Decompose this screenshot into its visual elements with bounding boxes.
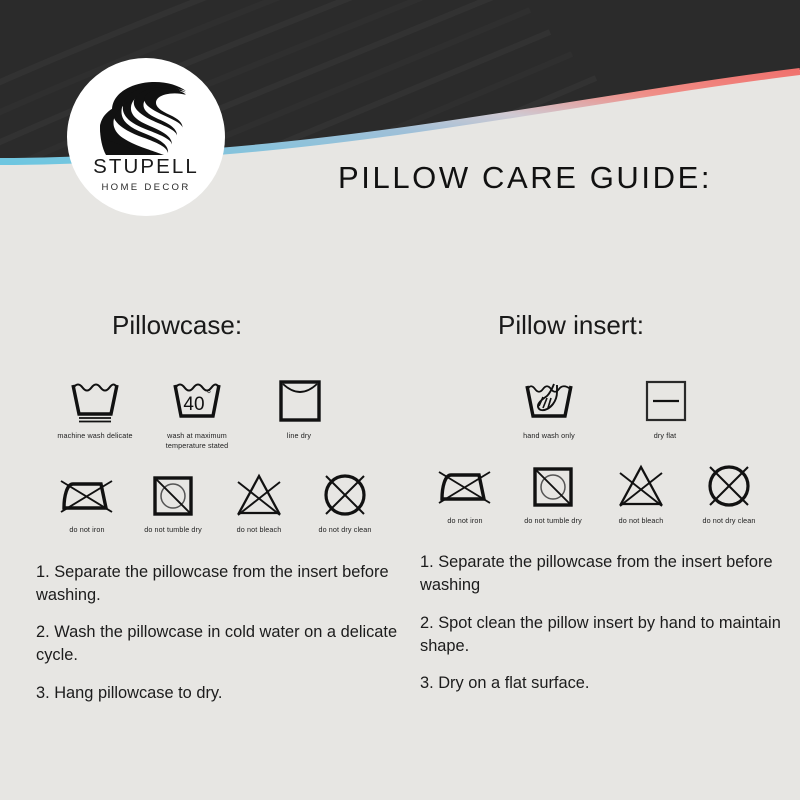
symbol-hand-wash-only: hand wash only — [512, 372, 586, 441]
pillow-insert-section: Pillow insert: hand wash only — [420, 312, 790, 695]
section-heading: Pillow insert: — [420, 312, 790, 338]
instruction-step: 1. Separate the pillowcase from the inse… — [36, 561, 406, 608]
dry-flat-icon — [639, 372, 691, 424]
symbol-do-not-tumble-dry: do not tumble dry — [516, 457, 590, 526]
wash-temperature-value: 40 — [183, 394, 204, 415]
symbol-do-not-iron: do not iron — [428, 457, 502, 526]
symbol-caption: do not bleach — [217, 525, 301, 535]
do-not-iron-icon — [435, 457, 495, 509]
line-dry-icon — [273, 372, 325, 424]
do-not-dry-clean-icon — [318, 466, 372, 518]
instruction-step: 2. Wash the pillowcase in cold water on … — [36, 621, 406, 668]
symbol-caption: hand wash only — [507, 431, 591, 441]
symbol-do-not-bleach: do not bleach — [604, 457, 678, 526]
symbol-caption: do not iron — [45, 525, 129, 535]
do-not-tumble-dry-icon — [527, 457, 579, 509]
symbol-row-wash: machine wash delicate 40 ° wash at maxim… — [36, 372, 406, 450]
symbol-do-not-bleach: do not bleach — [222, 466, 296, 535]
symbol-row-prohibited: do not iron do not tumble dry do not — [36, 466, 406, 535]
symbol-do-not-iron: do not iron — [50, 466, 124, 535]
symbol-do-not-dry-clean: do not dry clean — [308, 466, 382, 535]
symbol-do-not-tumble-dry: do not tumble dry — [136, 466, 210, 535]
wash-40-degrees-icon: 40 ° — [169, 372, 225, 424]
hand-wash-only-icon — [521, 372, 577, 424]
symbol-caption: wash at maximum temperature stated — [151, 431, 243, 450]
symbol-caption: dry flat — [623, 431, 707, 441]
brand-logo: STUPELL HOME DECOR — [67, 58, 225, 216]
degree-symbol: ° — [207, 389, 211, 401]
do-not-dry-clean-icon — [702, 457, 756, 509]
symbol-do-not-dry-clean: do not dry clean — [692, 457, 766, 526]
symbol-row-wash: hand wash only dry flat — [420, 372, 790, 441]
symbol-line-dry: line dry — [262, 372, 336, 450]
symbol-caption: machine wash delicate — [53, 431, 137, 441]
do-not-tumble-dry-icon — [147, 466, 199, 518]
machine-wash-delicate-icon — [67, 372, 123, 424]
symbol-caption: line dry — [257, 431, 341, 441]
symbol-caption: do not dry clean — [303, 525, 387, 535]
pillowcase-section: Pillowcase: machine wash delicate 40 ° — [36, 312, 406, 705]
instruction-step: 3. Dry on a flat surface. — [420, 672, 790, 695]
symbol-caption: do not tumble dry — [131, 525, 215, 535]
pillow-insert-instructions: 1. Separate the pillowcase from the inse… — [420, 551, 790, 695]
brand-tagline: HOME DECOR — [101, 183, 190, 193]
symbol-caption: do not bleach — [599, 516, 683, 526]
section-heading: Pillowcase: — [36, 312, 406, 338]
do-not-bleach-icon — [232, 466, 286, 518]
do-not-iron-icon — [57, 466, 117, 518]
symbol-wash-40: 40 ° wash at maximum temperature stated — [160, 372, 234, 450]
instruction-step: 3. Hang pillowcase to dry. — [36, 682, 406, 705]
pillowcase-instructions: 1. Separate the pillowcase from the inse… — [36, 561, 406, 705]
symbol-row-prohibited: do not iron do not tumble dry do not — [420, 457, 790, 526]
symbol-caption: do not tumble dry — [511, 516, 595, 526]
symbol-dry-flat: dry flat — [628, 372, 702, 441]
page-title: PILLOW CARE GUIDE: — [338, 160, 712, 196]
instruction-step: 2. Spot clean the pillow insert by hand … — [420, 612, 790, 659]
instruction-step: 1. Separate the pillowcase from the inse… — [420, 551, 790, 598]
stupell-swoosh-logo-icon — [94, 74, 198, 156]
symbol-caption: do not dry clean — [687, 516, 771, 526]
do-not-bleach-icon — [614, 457, 668, 509]
symbol-caption: do not iron — [423, 516, 507, 526]
symbol-machine-wash-delicate: machine wash delicate — [58, 372, 132, 450]
brand-name: STUPELL — [93, 157, 199, 178]
